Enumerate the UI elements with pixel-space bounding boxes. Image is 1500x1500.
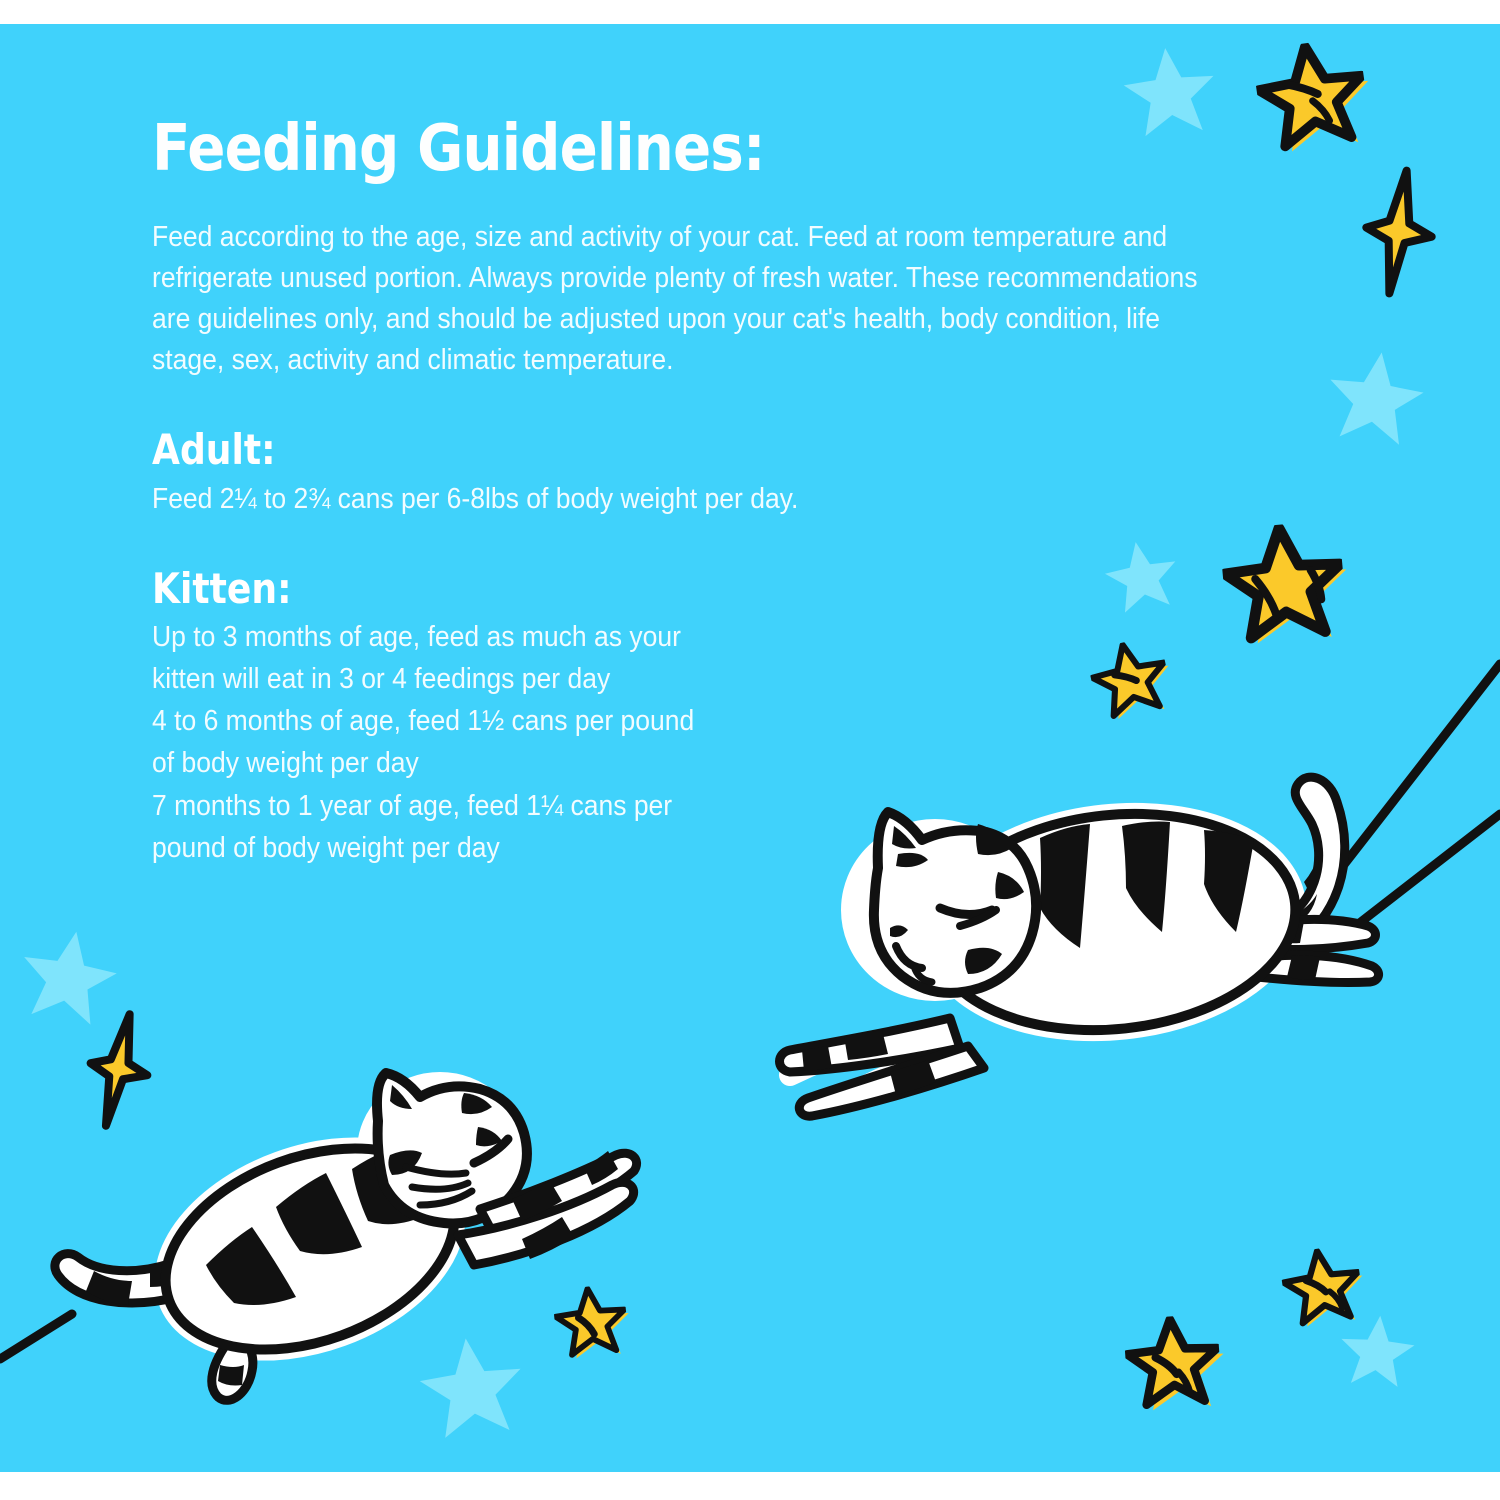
cat-front-legs [780,1018,985,1116]
yellow-star-icon [1125,1316,1227,1412]
small-streak-icon [0,1314,72,1359]
yellow-sparkle-icon [79,1008,159,1132]
flying-cat-lower-icon [55,1073,637,1400]
content-text-block: Feeding Guidelines: Feed according to th… [152,116,1312,869]
section-line: 4 to 6 months of age, feed 1½ cans per p… [152,700,1231,742]
cat-eye [474,1139,508,1163]
section-body-adult: Feed 2¼ to 2¾ cans per 6-8lbs of body we… [152,478,1231,520]
cat-hind-legs [1244,919,1379,982]
section-line: Up to 3 months of age, feed as much as y… [152,616,1231,658]
cat-body [138,1111,483,1387]
section-line: kitten will eat in 3 or 4 feedings per d… [152,658,1231,700]
section-kitten: Kitten: Up to 3 months of age, feed as m… [152,566,1312,869]
yellow-star-icon [553,1285,633,1360]
blue-background: Feeding Guidelines: Feed according to th… [0,24,1500,1472]
section-line: of body weight per day [152,742,1231,784]
pale-star-icon [15,924,123,1028]
diagonal-streak-line-icon [1290,664,1500,958]
pale-star-icon [415,1332,527,1440]
cat-mouth [896,946,922,968]
cat-hind-foot [212,1337,253,1400]
cat-eye [940,908,992,915]
yellow-sparkle-icon [1358,166,1441,298]
cat-nose [890,925,908,937]
section-heading-adult: Adult: [152,427,1150,473]
cat-head-stripes [388,1093,502,1175]
section-line: 7 months to 1 year of age, feed 1¼ cans … [152,785,1231,827]
section-heading-kitten: Kitten: [152,566,1150,612]
cat-head [377,1073,527,1223]
cat-tail [55,1254,178,1303]
section-line: Feed 2¼ to 2¾ cans per 6-8lbs of body we… [152,478,1231,520]
pale-star-icon [1323,346,1428,447]
section-adult: Adult: Feed 2¼ to 2¾ cans per 6-8lbs of … [152,427,1312,519]
yellow-star-icon [1280,1245,1368,1329]
intro-paragraph: Feed according to the age, size and acti… [152,217,1212,381]
cat-body-stripes [206,1147,422,1305]
cat-whiskers [406,1167,472,1205]
cat-front-legs [458,1151,637,1265]
page-title: Feeding Guidelines: [152,116,1173,183]
pale-star-icon [1338,1313,1417,1389]
section-body-kitten: Up to 3 months of age, feed as much as y… [152,616,1231,869]
poster-canvas: Feeding Guidelines: Feed according to th… [0,0,1500,1500]
section-line: pound of body weight per day [152,827,1231,869]
